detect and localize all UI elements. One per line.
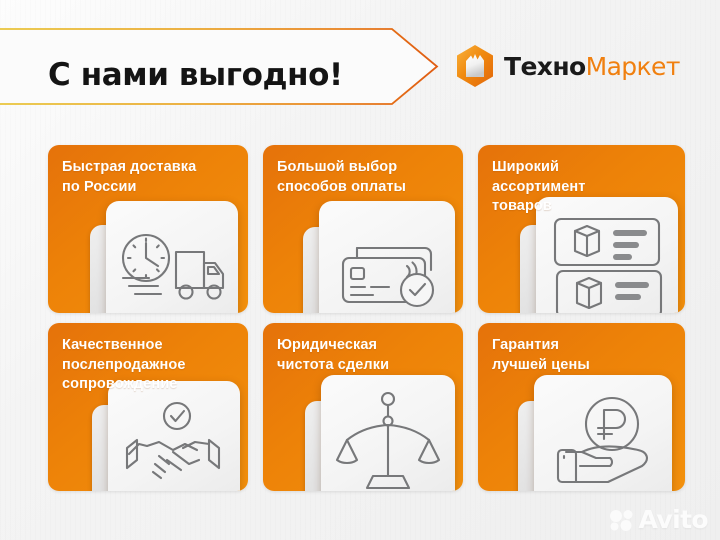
clock-truck-icon bbox=[113, 222, 231, 308]
avito-wordmark: Avito bbox=[639, 507, 708, 532]
card-title-line: Юридическая bbox=[277, 336, 453, 356]
card-title-line: Быстрая доставка bbox=[62, 158, 238, 178]
card-title-line: чистота сделки bbox=[277, 356, 453, 376]
card-title-line: сопровождение bbox=[62, 375, 238, 395]
card-title-line: Качественное bbox=[62, 336, 238, 356]
page-title: С нами выгодно! bbox=[48, 57, 343, 93]
card-title: Быстрая доставка по России bbox=[62, 158, 238, 197]
brand-logo: ТехноМаркет bbox=[455, 44, 680, 88]
card-title: Качественное послепродажное сопровождени… bbox=[62, 336, 238, 395]
logo-word-techno: Техно bbox=[504, 52, 586, 81]
card-front-sheet bbox=[534, 375, 672, 491]
card-title: Гарантия лучшей цены bbox=[492, 336, 675, 375]
card-front-sheet bbox=[321, 375, 455, 491]
header-banner: С нами выгодно! bbox=[0, 28, 438, 105]
credit-card-check-icon bbox=[331, 222, 443, 310]
avito-dots-icon bbox=[609, 509, 635, 531]
avito-watermark: Avito bbox=[609, 507, 708, 532]
product-list-boxes-icon bbox=[547, 211, 667, 313]
card-title-line: послепродажное bbox=[62, 356, 238, 376]
card-title-line: способов оплаты bbox=[277, 178, 453, 198]
card-title: Широкий ассортимент товаров bbox=[492, 158, 675, 217]
card-title: Большой выбор способов оплаты bbox=[277, 158, 453, 197]
card-title-line: ассортимент bbox=[492, 178, 675, 198]
card-wide-assortment[interactable]: Широкий ассортимент товаров bbox=[478, 145, 685, 313]
scales-justice-icon bbox=[335, 390, 441, 491]
card-front-sheet bbox=[319, 201, 455, 313]
card-front-sheet bbox=[106, 201, 238, 313]
card-title-line: товаров bbox=[492, 197, 675, 217]
card-title-line: Широкий bbox=[492, 158, 675, 178]
hand-ruble-coin-icon bbox=[546, 394, 660, 488]
card-title-line: по России bbox=[62, 178, 238, 198]
hexagon-building-logo-icon bbox=[455, 44, 495, 88]
logo-wordmark: ТехноМаркет bbox=[504, 54, 680, 79]
poster-canvas: С нами выгодно! ТехноМаркет bbox=[0, 0, 720, 540]
benefits-row-2: Качественное послепродажное сопровождени… bbox=[48, 323, 720, 491]
benefits-grid: Быстрая доставка по России bbox=[48, 145, 720, 501]
logo-word-market: Маркет bbox=[586, 52, 680, 81]
card-title-line: Гарантия bbox=[492, 336, 675, 356]
card-legal-purity[interactable]: Юридическая чистота сделки bbox=[263, 323, 463, 491]
card-fast-delivery[interactable]: Быстрая доставка по России bbox=[48, 145, 248, 313]
card-title-line: лучшей цены bbox=[492, 356, 675, 376]
handshake-check-icon bbox=[121, 398, 227, 490]
card-title-line: Большой выбор bbox=[277, 158, 453, 178]
benefits-row-1: Быстрая доставка по России bbox=[48, 145, 720, 313]
card-payment-options[interactable]: Большой выбор способов оплаты bbox=[263, 145, 463, 313]
card-best-price-guarantee[interactable]: Гарантия лучшей цены bbox=[478, 323, 685, 491]
card-front-sheet bbox=[108, 381, 240, 491]
card-title: Юридическая чистота сделки bbox=[277, 336, 453, 375]
card-after-sales-support[interactable]: Качественное послепродажное сопровождени… bbox=[48, 323, 248, 491]
